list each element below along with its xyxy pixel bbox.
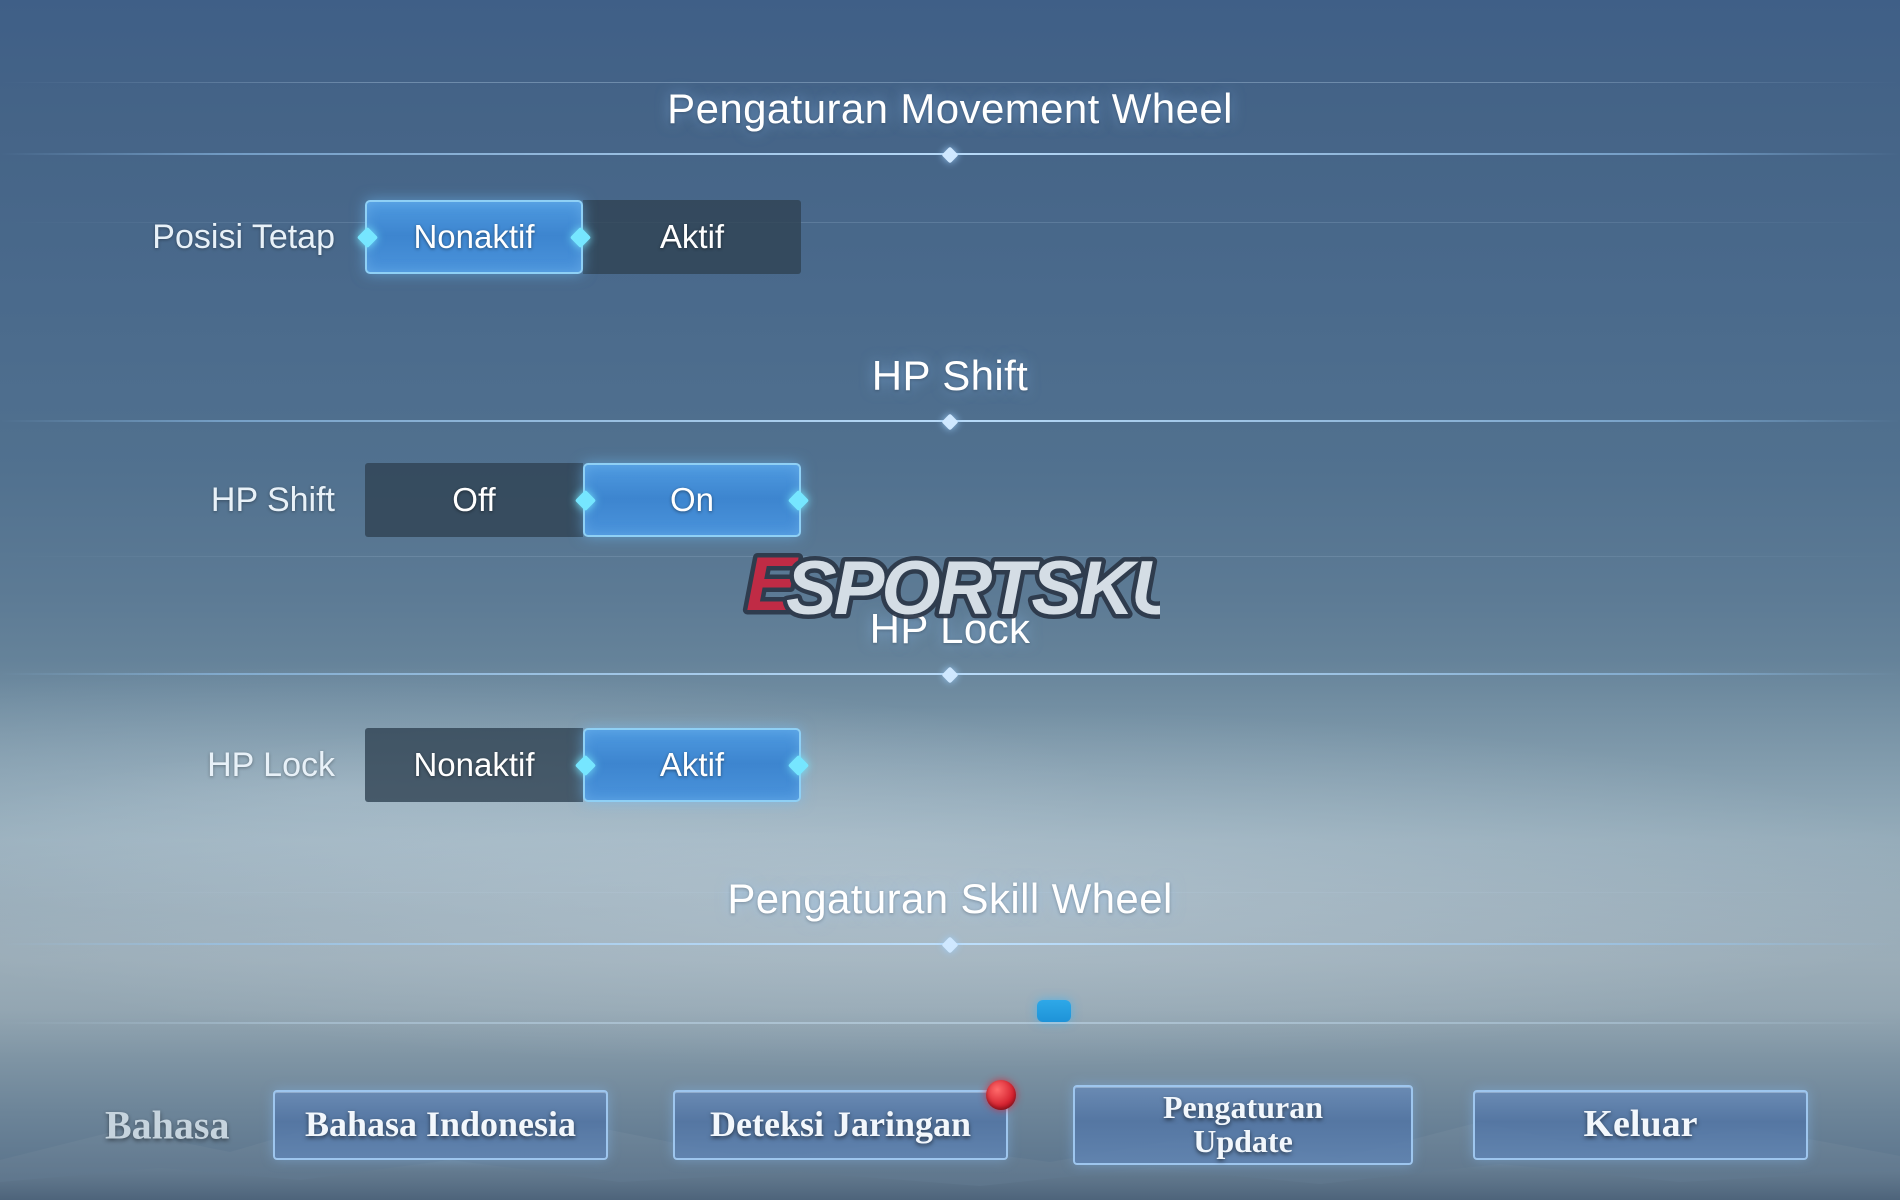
toggle-option-nonaktif[interactable]: Nonaktif xyxy=(365,728,583,802)
section-title: Pengaturan Skill Wheel xyxy=(0,878,1900,920)
toggle-option-aktif[interactable]: Aktif xyxy=(583,200,801,274)
section-header-hp-shift: HP Shift xyxy=(0,355,1900,425)
scroll-boundary-line xyxy=(0,1022,1900,1024)
section-header-movement-wheel: Pengaturan Movement Wheel xyxy=(0,88,1900,158)
setting-row-hp-lock: HP Lock Nonaktif Aktif xyxy=(110,728,801,802)
section-title: HP Shift xyxy=(0,355,1900,397)
network-detection-button-label: Deteksi Jaringan xyxy=(710,1106,971,1144)
row-label-hp-lock: HP Lock xyxy=(110,746,335,785)
section-title: HP Lock xyxy=(0,608,1900,650)
update-settings-button-label-line1: Pengaturan xyxy=(1163,1091,1323,1125)
update-settings-button[interactable]: Pengaturan Update xyxy=(1073,1085,1413,1165)
haze-line xyxy=(0,892,1900,893)
toggle-option-label: Nonaktif xyxy=(413,746,534,784)
toggle-option-label: Off xyxy=(452,481,495,519)
divider-diamond-icon xyxy=(942,667,959,684)
divider-diamond-icon xyxy=(942,414,959,431)
network-detection-button[interactable]: Deteksi Jaringan xyxy=(673,1090,1008,1160)
section-divider xyxy=(0,670,1900,678)
section-divider xyxy=(0,940,1900,948)
row-label-posisi-tetap: Posisi Tetap xyxy=(110,218,335,257)
divider-line xyxy=(0,673,1900,675)
row-label-hp-shift: HP Shift xyxy=(110,481,335,520)
toggle-option-label: Aktif xyxy=(660,746,724,784)
haze-line xyxy=(0,556,1900,557)
bottom-bar: Bahasa Bahasa Indonesia Deteksi Jaringan… xyxy=(0,1050,1900,1200)
toggle-group-posisi-tetap: Nonaktif Aktif xyxy=(365,200,801,274)
selection-diamond-right-icon xyxy=(788,490,809,511)
svg-text:E: E xyxy=(746,542,799,627)
language-button[interactable]: Bahasa Indonesia xyxy=(273,1090,608,1160)
scroll-peek-chip[interactable] xyxy=(1037,1000,1071,1022)
selection-diamond-right-icon xyxy=(788,755,809,776)
svg-text:E: E xyxy=(746,542,799,627)
toggle-option-label: Nonaktif xyxy=(413,218,534,256)
divider-diamond-icon xyxy=(942,147,959,164)
toggle-group-hp-lock: Nonaktif Aktif xyxy=(365,728,801,802)
toggle-option-aktif[interactable]: Aktif xyxy=(583,728,801,802)
esportsku-watermark: E E SPORTSKU SPORTSKU xyxy=(740,540,1160,635)
divider-line xyxy=(0,153,1900,155)
section-divider xyxy=(0,417,1900,425)
toggle-option-on[interactable]: On xyxy=(583,463,801,537)
svg-text:SPORTSKU: SPORTSKU xyxy=(786,546,1160,631)
toggle-option-nonaktif[interactable]: Nonaktif xyxy=(365,200,583,274)
haze-line xyxy=(0,82,1900,83)
toggle-option-label: On xyxy=(670,481,714,519)
toggle-group-hp-shift: Off On xyxy=(365,463,801,537)
section-title: Pengaturan Movement Wheel xyxy=(0,88,1900,130)
toggle-option-label: Aktif xyxy=(660,218,724,256)
divider-line xyxy=(0,420,1900,422)
svg-text:SPORTSKU: SPORTSKU xyxy=(786,546,1160,631)
divider-line xyxy=(0,943,1900,945)
section-header-hp-lock: HP Lock xyxy=(0,608,1900,678)
language-button-label: Bahasa Indonesia xyxy=(305,1106,576,1144)
update-settings-button-label-line2: Update xyxy=(1193,1125,1293,1159)
divider-diamond-icon xyxy=(942,937,959,954)
notification-dot-icon xyxy=(986,1080,1016,1110)
settings-screen: Pengaturan Movement Wheel Posisi Tetap N… xyxy=(0,0,1900,1200)
setting-row-posisi-tetap: Posisi Tetap Nonaktif Aktif xyxy=(110,200,801,274)
section-header-skill-wheel: Pengaturan Skill Wheel xyxy=(0,878,1900,948)
section-divider xyxy=(0,150,1900,158)
selection-diamond-left-icon xyxy=(357,227,378,248)
exit-button[interactable]: Keluar xyxy=(1473,1090,1808,1160)
exit-button-label: Keluar xyxy=(1584,1105,1698,1145)
setting-row-hp-shift: HP Shift Off On xyxy=(110,463,801,537)
toggle-option-off[interactable]: Off xyxy=(365,463,583,537)
language-label: Bahasa xyxy=(105,1102,230,1149)
